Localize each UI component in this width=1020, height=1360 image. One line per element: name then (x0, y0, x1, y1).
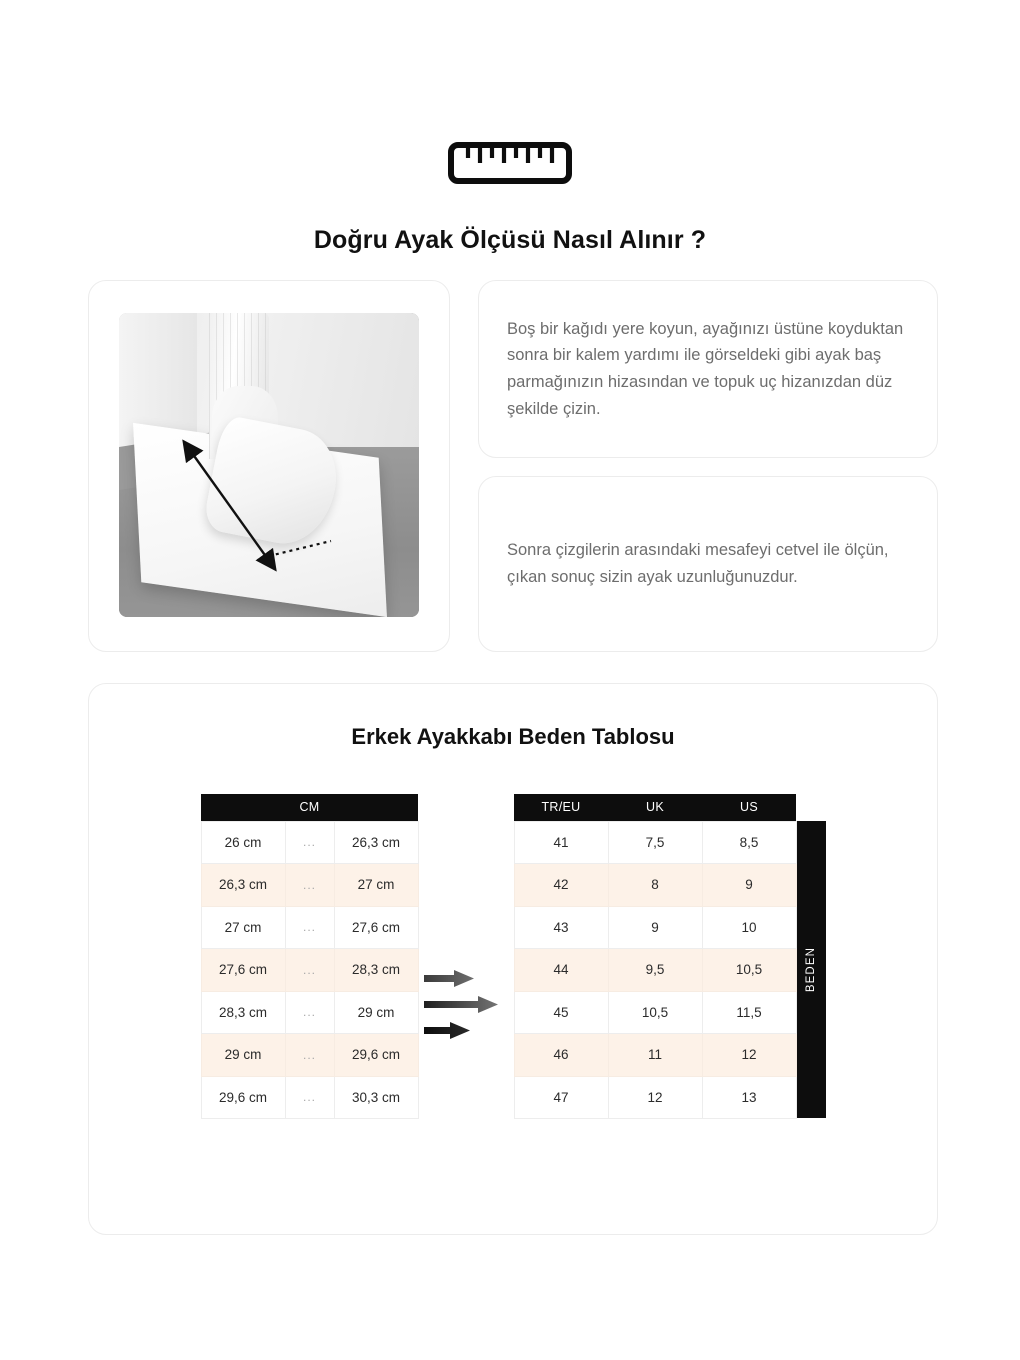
cm-dots-cell: ... (285, 1076, 334, 1119)
cm-to-cell: 26,3 cm (334, 821, 418, 864)
arrow-icon (424, 1022, 470, 1039)
foot-measurement-photo (119, 313, 419, 617)
size-table-card: Erkek Ayakkabı Beden Tablosu CM 26 (88, 683, 938, 1235)
beden-side-label: BEDEN (797, 821, 826, 1118)
tr-eu-cell: 44 (514, 949, 608, 992)
cm-dots-cell: ... (285, 864, 334, 907)
table-row: 41 7,5 8,5 (514, 821, 796, 864)
us-cell: 9 (702, 864, 796, 907)
uk-cell: 9,5 (608, 949, 702, 992)
cm-to-cell: 27,6 cm (334, 906, 418, 949)
size-tables-row: CM 26 cm ... 26,3 cm 26,3 cm ... 27 cm (89, 794, 937, 1119)
cm-to-cell: 29 cm (334, 991, 418, 1034)
cm-from-cell: 26 cm (201, 821, 285, 864)
table-row: 44 9,5 10,5 (514, 949, 796, 992)
header-uk: UK (608, 794, 702, 821)
table-row: 42 8 9 (514, 864, 796, 907)
tr-eu-cell: 47 (514, 1076, 608, 1119)
tr-eu-cell: 45 (514, 991, 608, 1034)
cm-dots-cell: ... (285, 821, 334, 864)
guide-top-section: Boş bir kağıdı yere koyun, ayağınızı üst… (88, 280, 938, 652)
uk-cell: 12 (608, 1076, 702, 1119)
cm-from-cell: 27 cm (201, 906, 285, 949)
us-cell: 10,5 (702, 949, 796, 992)
cm-header-cell: CM (201, 794, 418, 821)
us-cell: 11,5 (702, 991, 796, 1034)
table-row: 29 cm ... 29,6 cm (201, 1034, 418, 1077)
cm-dots-cell: ... (285, 1034, 334, 1077)
cm-to-cell: 30,3 cm (334, 1076, 418, 1119)
uk-cell: 8 (608, 864, 702, 907)
table-row: 26 cm ... 26,3 cm (201, 821, 418, 864)
cm-to-cell: 28,3 cm (334, 949, 418, 992)
header-us: US (702, 794, 796, 821)
ruler-icon (0, 140, 1020, 186)
instruction-card-2: Sonra çizgilerin arasındaki mesafeyi cet… (478, 476, 938, 652)
us-cell: 13 (702, 1076, 796, 1119)
size-table-wrap: TR/EU UK US 41 7,5 8,5 42 8 (514, 794, 826, 1119)
cm-table-body: 26 cm ... 26,3 cm 26,3 cm ... 27 cm 27 c… (201, 821, 418, 1119)
cm-from-cell: 29 cm (201, 1034, 285, 1077)
table-row: 28,3 cm ... 29 cm (201, 991, 418, 1034)
uk-cell: 10,5 (608, 991, 702, 1034)
cm-table-header-row: CM (201, 794, 418, 821)
cm-from-cell: 26,3 cm (201, 864, 285, 907)
header-tr-eu: TR/EU (514, 794, 608, 821)
page-header: Doğru Ayak Ölçüsü Nasıl Alınır ? (0, 0, 1020, 255)
table-row: 27 cm ... 27,6 cm (201, 906, 418, 949)
table-row: 29,6 cm ... 30,3 cm (201, 1076, 418, 1119)
tr-eu-cell: 43 (514, 906, 608, 949)
table-row: 43 9 10 (514, 906, 796, 949)
cm-dots-cell: ... (285, 906, 334, 949)
cm-table-wrap: CM 26 cm ... 26,3 cm 26,3 cm ... 27 cm (201, 794, 418, 1119)
instructions-column: Boş bir kağıdı yere koyun, ayağınızı üst… (478, 280, 938, 652)
size-table-title: Erkek Ayakkabı Beden Tablosu (89, 724, 937, 750)
cm-from-cell: 29,6 cm (201, 1076, 285, 1119)
foot-photo-card (88, 280, 450, 652)
size-table-header-row: TR/EU UK US (514, 794, 796, 821)
size-table-body: 41 7,5 8,5 42 8 9 43 9 10 (514, 821, 796, 1119)
instruction-text-1: Boş bir kağıdı yere koyun, ayağınızı üst… (507, 316, 909, 423)
mapping-arrows (418, 970, 514, 1039)
tr-eu-cell: 41 (514, 821, 608, 864)
table-row: 26,3 cm ... 27 cm (201, 864, 418, 907)
cm-to-cell: 29,6 cm (334, 1034, 418, 1077)
page-title: Doğru Ayak Ölçüsü Nasıl Alınır ? (0, 226, 1020, 255)
cm-dots-cell: ... (285, 949, 334, 992)
cm-dots-cell: ... (285, 991, 334, 1034)
measurement-arrow-overlay (119, 313, 419, 617)
size-table: TR/EU UK US 41 7,5 8,5 42 8 (514, 794, 797, 1119)
us-cell: 8,5 (702, 821, 796, 864)
cm-table: CM 26 cm ... 26,3 cm 26,3 cm ... 27 cm (201, 794, 419, 1119)
cm-to-cell: 27 cm (334, 864, 418, 907)
cm-from-cell: 27,6 cm (201, 949, 285, 992)
uk-cell: 7,5 (608, 821, 702, 864)
table-row: 27,6 cm ... 28,3 cm (201, 949, 418, 992)
instruction-card-1: Boş bir kağıdı yere koyun, ayağınızı üst… (478, 280, 938, 458)
tr-eu-cell: 42 (514, 864, 608, 907)
size-guide-page: Doğru Ayak Ölçüsü Nasıl Alınır ? (0, 0, 1020, 1360)
beden-label-text: BEDEN (805, 947, 817, 992)
arrow-icon (424, 996, 498, 1013)
arrow-icon (424, 970, 474, 987)
us-cell: 12 (702, 1034, 796, 1077)
cm-from-cell: 28,3 cm (201, 991, 285, 1034)
uk-cell: 9 (608, 906, 702, 949)
table-row: 47 12 13 (514, 1076, 796, 1119)
instruction-text-2: Sonra çizgilerin arasındaki mesafeyi cet… (507, 537, 909, 590)
uk-cell: 11 (608, 1034, 702, 1077)
tr-eu-cell: 46 (514, 1034, 608, 1077)
us-cell: 10 (702, 906, 796, 949)
table-row: 46 11 12 (514, 1034, 796, 1077)
table-row: 45 10,5 11,5 (514, 991, 796, 1034)
